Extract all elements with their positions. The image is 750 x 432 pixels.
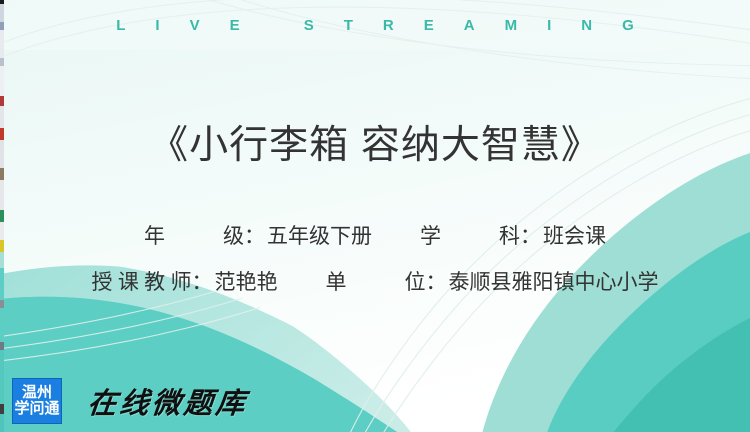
info-field-school: 单位 ： 泰顺县雅阳镇中心小学 bbox=[326, 260, 659, 306]
logo-line-2: 学问通 bbox=[14, 401, 59, 417]
info-row-grade-subject: 年级 ： 五年级下册 学科 ： 班会课 bbox=[0, 214, 750, 260]
info-separator: ： bbox=[426, 260, 447, 306]
slide-title: 《小行李箱 容纳大智慧》 bbox=[0, 114, 750, 170]
wenzhou-xuewentong-logo: 温州 学问通 bbox=[12, 378, 62, 424]
logo-line-1: 温州 bbox=[22, 385, 52, 401]
info-value-teacher: 范艳艳 bbox=[215, 260, 278, 306]
info-label-subject: 学科 bbox=[420, 214, 520, 260]
presentation-slide: LIVE STREAMING 《小行李箱 容纳大智慧》 年级 ： 五年级下册 学… bbox=[0, 0, 750, 432]
info-label-teacher: 授课教师 bbox=[92, 260, 192, 306]
info-label-grade: 年级 bbox=[144, 214, 244, 260]
info-field-subject: 学科 ： 班会课 bbox=[420, 214, 606, 260]
info-field-grade: 年级 ： 五年级下册 bbox=[144, 214, 372, 260]
branding-block: 温州 学问通 在线微题库 bbox=[12, 378, 248, 424]
slide-info-block: 年级 ： 五年级下册 学科 ： 班会课 授课教师 ： 范艳艳 单位 ： 泰顺县雅… bbox=[0, 214, 750, 306]
info-field-teacher: 授课教师 ： 范艳艳 bbox=[92, 260, 278, 306]
info-separator: ： bbox=[520, 214, 541, 260]
info-value-grade: 五年级下册 bbox=[267, 214, 372, 260]
info-value-school: 泰顺县雅阳镇中心小学 bbox=[449, 260, 659, 306]
info-separator: ： bbox=[244, 214, 265, 260]
info-label-school: 单位 bbox=[326, 260, 426, 306]
info-separator: ： bbox=[192, 260, 213, 306]
watermark-text: 在线微题库 bbox=[86, 380, 250, 422]
info-value-subject: 班会课 bbox=[543, 214, 606, 260]
window-edge-sliver bbox=[0, 0, 4, 432]
info-row-teacher-school: 授课教师 ： 范艳艳 单位 ： 泰顺县雅阳镇中心小学 bbox=[0, 260, 750, 306]
